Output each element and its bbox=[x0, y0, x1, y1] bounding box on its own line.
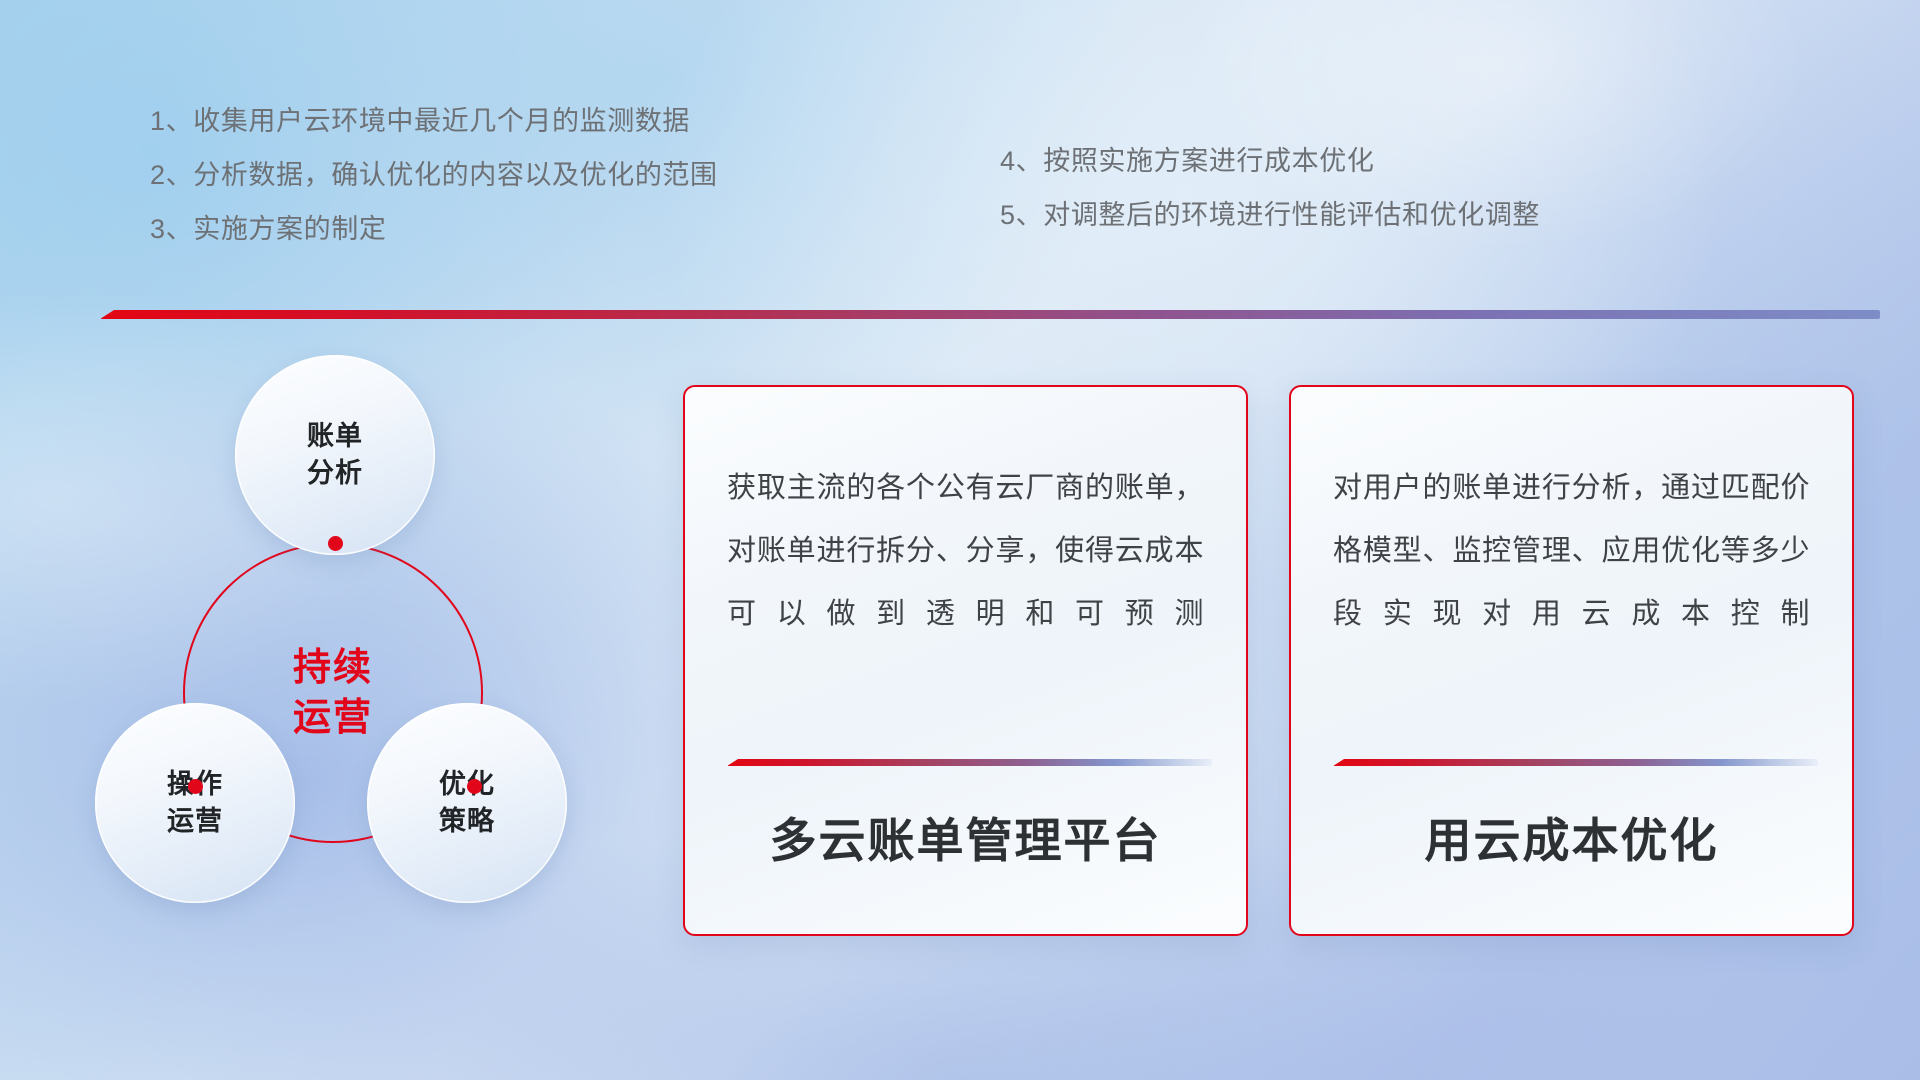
section-divider bbox=[100, 310, 1880, 319]
bullet-item-2: 2、分析数据，确认优化的内容以及优化的范围 bbox=[150, 148, 718, 202]
node-optimization-line-2: 策略 bbox=[439, 806, 495, 836]
bullet-item-3: 3、实施方案的制定 bbox=[150, 202, 718, 256]
node-operations[interactable]: 操作 运营 bbox=[95, 703, 295, 903]
card-2-body: 对用户的账单进行分析，通过匹配价格模型、监控管理、应用优化等多少段实现对用云成本… bbox=[1291, 387, 1852, 646]
node-billing-analysis-line-2: 分析 bbox=[307, 458, 363, 488]
connector-dot-left-icon bbox=[188, 779, 203, 794]
bullet-item-1: 1、收集用户云环境中最近几个月的监测数据 bbox=[150, 94, 718, 148]
card-multi-cloud-billing-platform[interactable]: 获取主流的各个公有云厂商的账单，对账单进行拆分、分享，使得云成本可以做到透明和可… bbox=[683, 385, 1248, 936]
card-1-divider bbox=[727, 759, 1212, 766]
card-1-body: 获取主流的各个公有云厂商的账单，对账单进行拆分、分享，使得云成本可以做到透明和可… bbox=[685, 387, 1246, 646]
node-billing-analysis-line-1: 账单 bbox=[307, 421, 363, 451]
card-2-divider bbox=[1333, 759, 1818, 766]
card-cloud-cost-optimization[interactable]: 对用户的账单进行分析，通过匹配价格模型、监控管理、应用优化等多少段实现对用云成本… bbox=[1289, 385, 1854, 936]
node-operations-line-2: 运营 bbox=[167, 806, 223, 836]
bullet-item-5: 5、对调整后的环境进行性能评估和优化调整 bbox=[1000, 188, 1540, 242]
connector-dot-right-icon bbox=[467, 779, 482, 794]
card-2-title: 用云成本优化 bbox=[1291, 802, 1852, 871]
continuous-operations-diagram: 持续 运营 账单 分析 操作 运营 优化 策略 bbox=[95, 355, 595, 945]
node-billing-analysis[interactable]: 账单 分析 bbox=[235, 355, 435, 555]
center-label-line-1: 持续 bbox=[293, 647, 373, 689]
bullet-lists: 1、收集用户云环境中最近几个月的监测数据 2、分析数据，确认优化的内容以及优化的… bbox=[0, 94, 1920, 254]
bullet-column-right: 4、按照实施方案进行成本优化 5、对调整后的环境进行性能评估和优化调整 bbox=[1000, 134, 1540, 242]
card-1-description: 获取主流的各个公有云厂商的账单，对账单进行拆分、分享，使得云成本可以做到透明和可… bbox=[727, 457, 1204, 646]
center-label-line-2: 运营 bbox=[293, 697, 373, 739]
bullet-item-4: 4、按照实施方案进行成本优化 bbox=[1000, 134, 1540, 188]
card-1-title: 多云账单管理平台 bbox=[685, 802, 1246, 871]
bullet-column-left: 1、收集用户云环境中最近几个月的监测数据 2、分析数据，确认优化的内容以及优化的… bbox=[150, 94, 718, 256]
card-2-description: 对用户的账单进行分析，通过匹配价格模型、监控管理、应用优化等多少段实现对用云成本… bbox=[1333, 457, 1810, 646]
connector-dot-top-icon bbox=[328, 536, 343, 551]
node-optimization[interactable]: 优化 策略 bbox=[367, 703, 567, 903]
